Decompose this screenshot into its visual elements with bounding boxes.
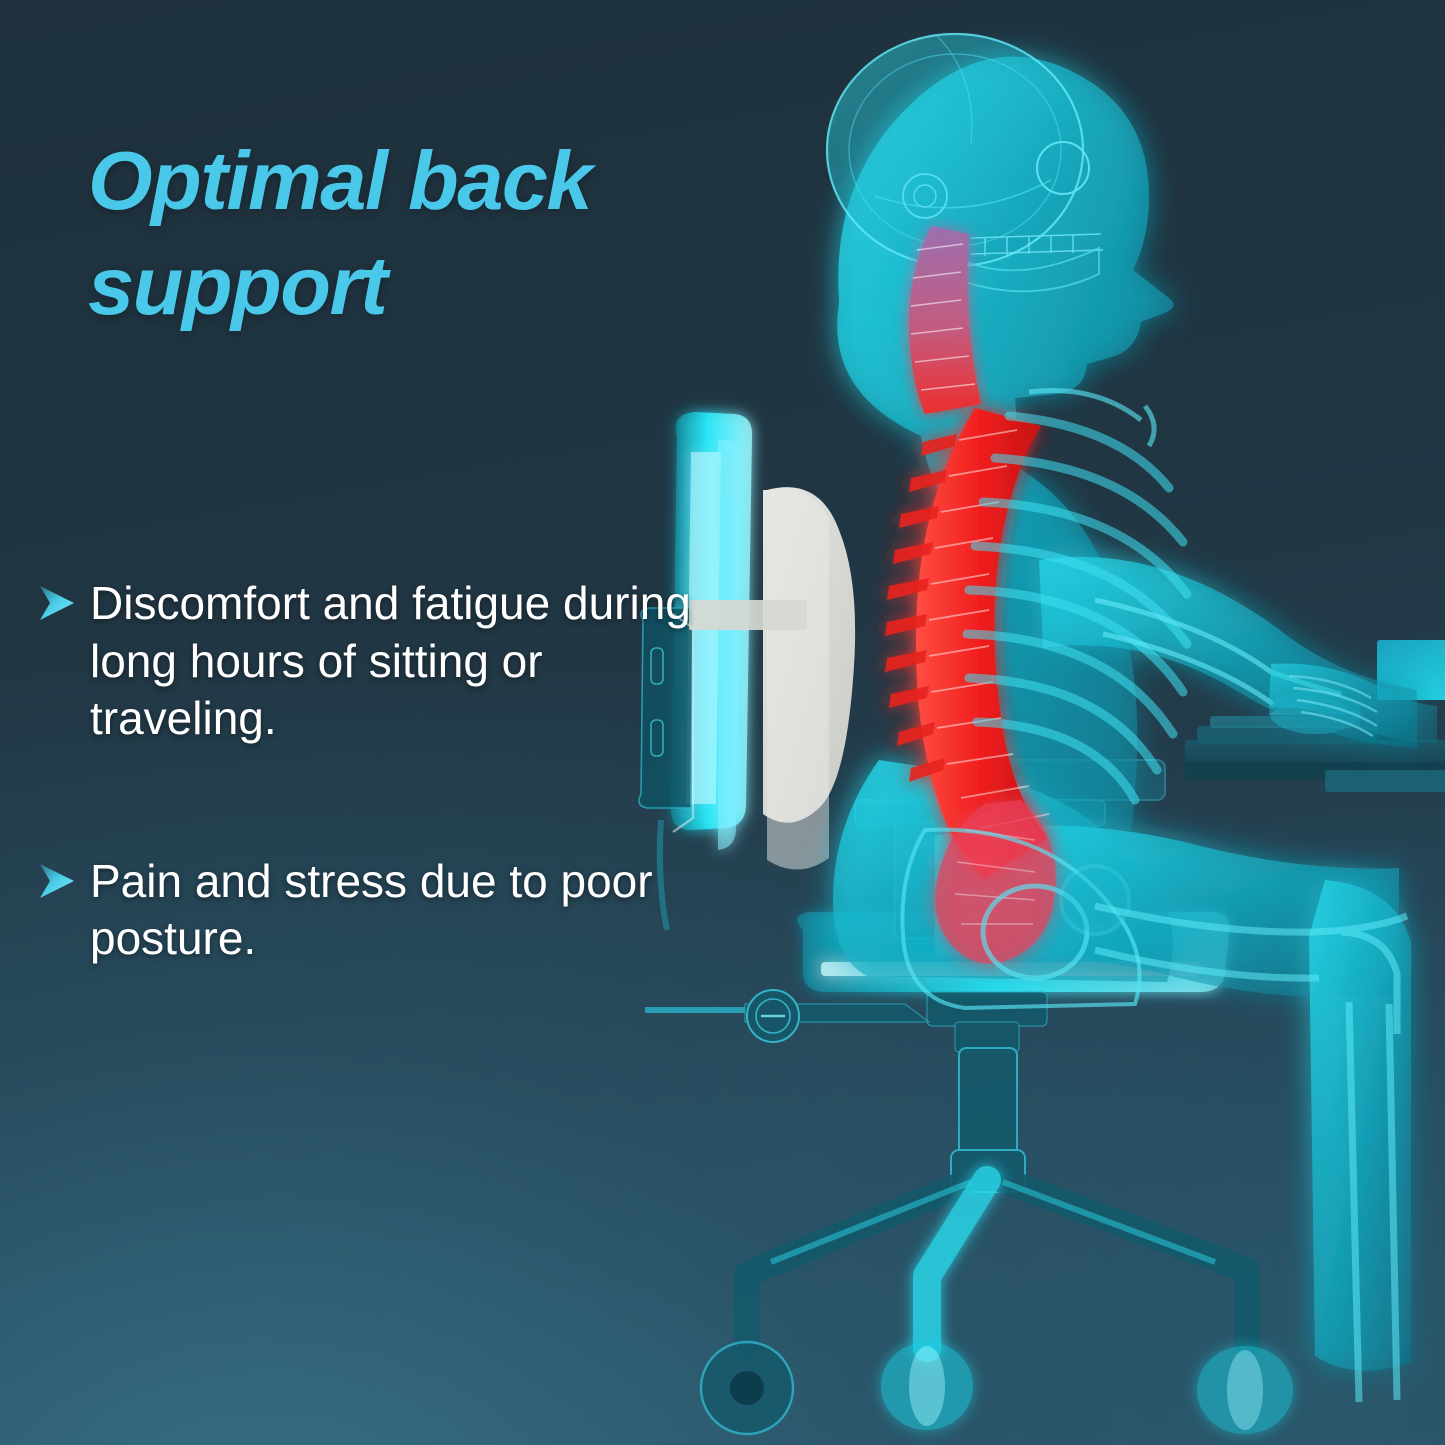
chair-base-legs (747, 1178, 1247, 1348)
femur-head (1061, 866, 1129, 934)
list-item-label: Discomfort and fatigue during long hours… (90, 575, 694, 748)
page-title: Optimal back support (88, 128, 728, 339)
monitor (1325, 770, 1445, 792)
list-item: Pain and stress due to poor posture. (34, 853, 694, 968)
arrow-dart-icon (34, 859, 78, 903)
product-feature-poster: Optimal back support (0, 0, 1445, 1445)
lumbar-cushion (763, 487, 855, 869)
list-item-label: Pain and stress due to poor posture. (90, 853, 694, 968)
list-item: Discomfort and fatigue during long hours… (34, 575, 694, 748)
text-panel: Optimal back support (0, 0, 720, 1445)
benefit-list: Discomfort and fatigue during long hours… (34, 575, 694, 968)
headline-line-2: support (88, 239, 386, 332)
xray-illustration (625, 0, 1445, 1445)
headline-line-1: Optimal back (88, 134, 591, 227)
caster-wheels (701, 1342, 1293, 1434)
arrow-dart-icon (34, 581, 78, 625)
